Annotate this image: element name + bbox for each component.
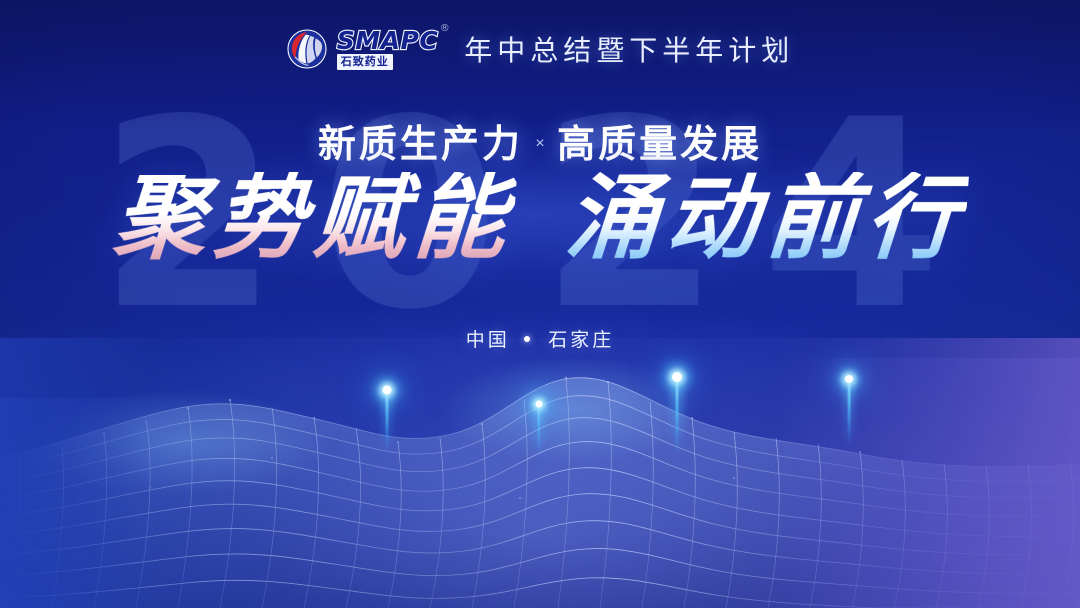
subtitle-right: 高质量发展 bbox=[557, 124, 762, 166]
location-city: 石家庄 bbox=[548, 330, 614, 351]
location-country: 中国 bbox=[466, 330, 510, 351]
subtitle-line: 新质生产力 × 高质量发展 bbox=[0, 113, 1080, 168]
brand-text-block: SMAPC ® 石致药业 bbox=[337, 28, 438, 70]
headline-segment-2: 涌动前行 bbox=[563, 172, 969, 264]
header-bar: SMAPC ® 石致药业 年中总结暨下半年计划 bbox=[0, 28, 1080, 70]
subtitle-separator: × bbox=[535, 135, 544, 152]
brand-wordmark-text: SMAPC bbox=[337, 26, 438, 55]
background-gradient bbox=[0, 0, 1080, 608]
subtitle-left: 新质生产力 bbox=[318, 124, 523, 166]
dot-separator-icon bbox=[524, 336, 530, 342]
event-title: 年中总结暨下半年计划 bbox=[464, 29, 794, 69]
registered-trademark-icon: ® bbox=[440, 24, 451, 34]
main-headline: 聚势赋能 涌动前行 bbox=[0, 172, 1080, 264]
smapc-circular-emblem-icon bbox=[286, 28, 328, 70]
brand-chinese-name: 石致药业 bbox=[337, 54, 393, 70]
location-line: 中国 石家庄 bbox=[0, 325, 1080, 352]
brand-logo[interactable]: SMAPC ® 石致药业 bbox=[286, 28, 438, 70]
headline-segment-1: 聚势赋能 bbox=[110, 172, 516, 264]
brand-wordmark: SMAPC ® bbox=[337, 28, 438, 53]
poster-canvas: 2024 SMAPC ® 石致药业 bbox=[0, 0, 1080, 608]
